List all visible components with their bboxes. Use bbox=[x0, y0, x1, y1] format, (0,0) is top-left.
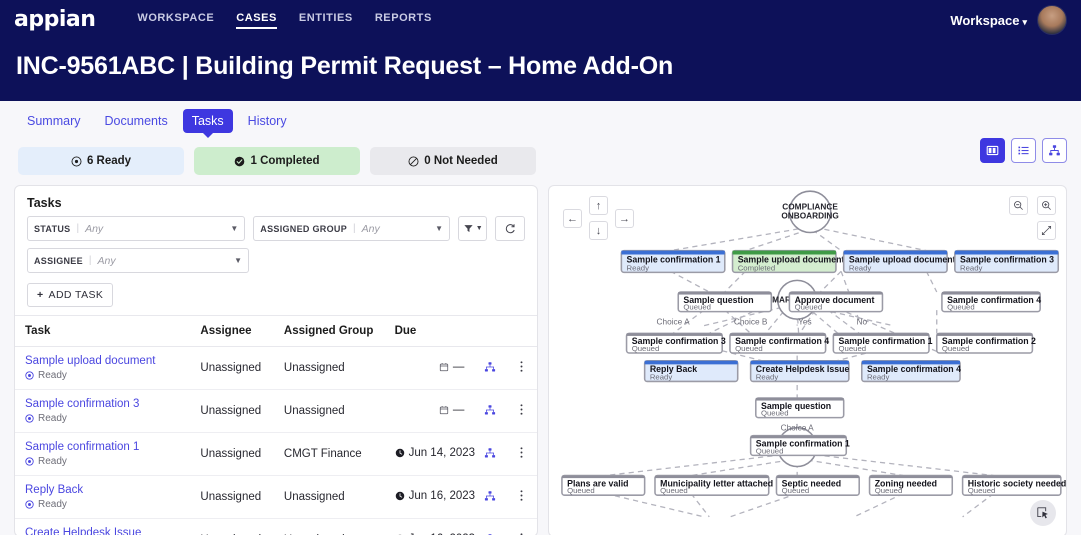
diagram-node-historic-society-needed[interactable]: Historic society needed Queued bbox=[963, 476, 1066, 496]
column-header-assignee[interactable]: Assignee bbox=[190, 316, 274, 347]
tasks-filters: STATUS | Any ▼ ASSIGNED GROUP | Any ▼ ▼ bbox=[15, 216, 537, 315]
chevron-down-icon: ▼ bbox=[234, 256, 242, 265]
cell-group: Unassigned bbox=[274, 519, 385, 535]
cell-task: Sample confirmation 3 Ready bbox=[15, 390, 190, 433]
due-date: — bbox=[453, 404, 465, 416]
main-content: Tasks STATUS | Any ▼ ASSIGNED GROUP | An… bbox=[0, 185, 1081, 535]
diagram-node-n6[interactable]: Approve document Queued bbox=[789, 292, 882, 312]
assigned-group-filter-select[interactable]: ASSIGNED GROUP | Any ▼ bbox=[253, 216, 450, 241]
diagram-node-sample-confirmation-1-marketing[interactable]: Sample confirmation 1 Queued bbox=[751, 436, 850, 456]
status-chip-not-needed-label: 0 Not Needed bbox=[424, 155, 498, 167]
circle-dot-icon bbox=[25, 414, 34, 423]
diagram-node-n2[interactable]: Sample upload document Completed bbox=[733, 251, 845, 273]
pointer-select-icon bbox=[1036, 506, 1050, 520]
chevron-down-icon: ▼ bbox=[230, 224, 238, 233]
node-subtitle: Queued bbox=[947, 303, 975, 312]
status-filter-select[interactable]: STATUS | Any ▼ bbox=[27, 216, 245, 241]
node-subtitle: Ready bbox=[867, 372, 890, 381]
diagram-node-n11[interactable]: Sample confirmation 2 Queued bbox=[937, 333, 1036, 353]
diagram-node-municipality-letter-attached[interactable]: Municipality letter attached Queued bbox=[655, 476, 773, 496]
chevron-down-icon: ▼ bbox=[435, 224, 443, 233]
list-icon bbox=[1017, 144, 1030, 157]
tab-history[interactable]: History bbox=[239, 109, 296, 133]
node-subtitle: Queued bbox=[660, 486, 688, 495]
nav-link-entities[interactable]: ENTITIES bbox=[299, 12, 353, 29]
swimlane-label-line2: ONBOARDING bbox=[781, 212, 838, 221]
hierarchy-icon[interactable] bbox=[484, 361, 496, 373]
diagram-node-create-helpdesk-issue[interactable]: Create Helpdesk Issue Ready bbox=[751, 361, 850, 382]
zoom-in-icon bbox=[1041, 200, 1052, 211]
filter-divider: | bbox=[89, 255, 92, 266]
tasks-table: Task Assignee Assigned Group Due Sample … bbox=[15, 315, 537, 535]
tab-tasks[interactable]: Tasks bbox=[183, 109, 233, 133]
assignee-filter-select[interactable]: ASSIGNEE | Any ▼ bbox=[27, 248, 249, 273]
node-subtitle: Ready bbox=[756, 372, 779, 381]
cell-flow bbox=[474, 347, 505, 390]
cell-assignee: Unassigned bbox=[190, 347, 274, 390]
diagram-node-n1[interactable]: Sample confirmation 1 Ready bbox=[621, 251, 724, 273]
diagram-node-n12[interactable] bbox=[652, 326, 740, 347]
clock-icon bbox=[395, 491, 405, 501]
node-subtitle: Completed bbox=[738, 263, 775, 272]
table-row[interactable]: Create Helpdesk Issue Ready Unassigned U… bbox=[15, 519, 537, 535]
node-subtitle: Queued bbox=[942, 344, 970, 353]
page-title: INC-9561ABC | Building Permit Request – … bbox=[16, 52, 1065, 81]
pan-controls: ↑ ↓ ← → bbox=[563, 196, 635, 244]
diagram-node-n3[interactable]: Sample upload document Ready bbox=[844, 251, 956, 273]
diagram-node-n10[interactable]: Sample confirmation 1 Queued bbox=[833, 333, 932, 353]
more-options-icon[interactable] bbox=[520, 446, 523, 459]
assigned-group-filter-label: ASSIGNED GROUP bbox=[260, 224, 347, 234]
status-chip-not-needed[interactable]: 0 Not Needed bbox=[370, 147, 536, 175]
table-row[interactable]: Sample upload document Ready Unassigned … bbox=[15, 347, 537, 390]
node-subtitle: Queued bbox=[875, 486, 903, 495]
more-options-icon[interactable] bbox=[520, 403, 523, 416]
node-subtitle: Queued bbox=[567, 486, 595, 495]
tasks-table-body: Sample upload document Ready Unassigned … bbox=[15, 347, 537, 535]
cell-group: Unassigned bbox=[274, 476, 385, 519]
node-subtitle: Ready bbox=[650, 372, 673, 381]
task-status-label: Ready bbox=[38, 370, 67, 381]
add-task-label: ADD TASK bbox=[49, 289, 104, 301]
node-subtitle: Ready bbox=[627, 263, 650, 272]
cell-flow bbox=[474, 390, 505, 433]
column-header-flow bbox=[474, 316, 505, 347]
tasks-panel-heading: Tasks bbox=[15, 186, 537, 216]
nav-right-group: Workspace▾ bbox=[950, 5, 1067, 35]
status-filter-value: Any bbox=[85, 223, 103, 235]
task-status: Ready bbox=[25, 370, 180, 381]
cell-actions bbox=[506, 476, 537, 519]
due-date: — bbox=[453, 361, 465, 373]
fit-screen-icon bbox=[1041, 225, 1052, 236]
hierarchy-icon bbox=[1048, 144, 1061, 157]
case-title-band: INC-9561ABC | Building Permit Request – … bbox=[0, 40, 1081, 101]
fit-to-screen-button[interactable] bbox=[1037, 221, 1056, 240]
pan-up-button[interactable]: ↑ bbox=[589, 196, 608, 215]
diagram-node-zoning-needed[interactable]: Zoning needed Queued bbox=[870, 476, 953, 496]
filter-divider: | bbox=[353, 223, 356, 234]
task-status-label: Ready bbox=[38, 499, 67, 510]
clock-icon bbox=[395, 448, 405, 458]
calendar-icon bbox=[439, 405, 449, 415]
view-toggle-list[interactable] bbox=[1011, 138, 1036, 163]
edge-label-no: No bbox=[856, 318, 867, 327]
assigned-group-filter-value: Any bbox=[362, 223, 380, 235]
add-task-button[interactable]: + ADD TASK bbox=[27, 283, 113, 307]
edge-label-yes: Yes bbox=[798, 318, 811, 327]
assignee-filter-value: Any bbox=[98, 255, 116, 267]
swimlane-compliance-onboarding[interactable]: COMPLIANCE ONBOARDING bbox=[781, 191, 838, 232]
cell-due: — bbox=[385, 390, 475, 433]
diagram-node-n4[interactable]: Sample confirmation 3 Ready bbox=[955, 251, 1058, 273]
refresh-button[interactable] bbox=[495, 216, 525, 241]
workspace-menu-button[interactable]: Workspace▾ bbox=[950, 13, 1027, 28]
chevron-down-icon: ▼ bbox=[476, 225, 483, 232]
due-wrapper: Jun 16, 2023 bbox=[395, 490, 476, 502]
task-link[interactable]: Sample confirmation 1 bbox=[25, 441, 180, 453]
cell-due: Jun 14, 2023 bbox=[385, 433, 475, 476]
tasks-table-header: Task Assignee Assigned Group Due bbox=[15, 316, 537, 347]
node-subtitle: Ready bbox=[849, 263, 872, 272]
cell-group: Unassigned bbox=[274, 347, 385, 390]
task-link[interactable]: Sample upload document bbox=[25, 355, 180, 367]
zoom-out-button[interactable] bbox=[1009, 196, 1028, 215]
zoom-controls bbox=[1009, 196, 1056, 241]
task-status-label: Ready bbox=[38, 413, 67, 424]
node-subtitle: Queued bbox=[756, 446, 784, 455]
status-chip-ready-label: 6 Ready bbox=[87, 155, 131, 167]
cell-group: Unassigned bbox=[274, 390, 385, 433]
cell-task: Create Helpdesk Issue Ready bbox=[15, 519, 190, 535]
tasks-panel: Tasks STATUS | Any ▼ ASSIGNED GROUP | An… bbox=[14, 185, 538, 535]
task-link[interactable]: Reply Back bbox=[25, 484, 180, 496]
plus-icon: + bbox=[37, 289, 44, 301]
status-chip-ready[interactable]: 6 Ready bbox=[18, 147, 184, 175]
node-subtitle: Queued bbox=[782, 486, 810, 495]
cell-flow bbox=[474, 519, 505, 535]
filter-row-1: STATUS | Any ▼ ASSIGNED GROUP | Any ▼ ▼ bbox=[27, 216, 525, 241]
task-status: Ready bbox=[25, 413, 180, 424]
view-toggle-split[interactable] bbox=[980, 138, 1005, 163]
tab-summary[interactable]: Summary bbox=[18, 109, 89, 133]
hierarchy-icon[interactable] bbox=[484, 404, 496, 416]
node-subtitle: Queued bbox=[761, 409, 789, 418]
table-row[interactable]: Sample confirmation 1 Ready Unassigned C… bbox=[15, 433, 537, 476]
node-subtitle: Queued bbox=[683, 303, 711, 312]
table-row[interactable]: Reply Back Ready Unassigned Unassigned J… bbox=[15, 476, 537, 519]
check-circle-icon bbox=[234, 156, 245, 167]
status-chip-completed-label: 1 Completed bbox=[250, 155, 319, 167]
diagram-node-sample-confirmation-4-marketing[interactable]: Sample confirmation 4 Ready bbox=[862, 361, 961, 382]
pointer-select-button[interactable] bbox=[1030, 500, 1056, 526]
column-header-task[interactable]: Task bbox=[15, 316, 190, 347]
chevron-down-icon: ▾ bbox=[1022, 17, 1027, 28]
filter-row-2: ASSIGNEE | Any ▼ bbox=[27, 248, 525, 273]
circle-dot-icon bbox=[71, 156, 82, 167]
diagram-node-n5[interactable]: Sample question Queued bbox=[678, 292, 771, 312]
diagram-node-n9[interactable]: Sample confirmation 4 Queued bbox=[730, 333, 829, 353]
task-status: Ready bbox=[25, 456, 180, 467]
more-options-icon[interactable] bbox=[520, 360, 523, 373]
due-date: Jun 14, 2023 bbox=[409, 447, 476, 459]
status-chip-completed[interactable]: 1 Completed bbox=[194, 147, 360, 175]
diagram-canvas[interactable]: COMPLIANCE ONBOARDING MARKETING PERMITTI… bbox=[549, 186, 1066, 535]
diagram-node-plans-are-valid[interactable]: Plans are valid Queued bbox=[562, 476, 645, 496]
cell-assignee: Unassigned bbox=[190, 519, 274, 535]
cell-task: Sample confirmation 1 Ready bbox=[15, 433, 190, 476]
status-summary-chips: 6 Ready 1 Completed 0 Not Needed bbox=[0, 133, 1081, 185]
pan-right-button[interactable]: → bbox=[615, 209, 634, 228]
table-row[interactable]: Sample confirmation 3 Ready Unassigned U… bbox=[15, 390, 537, 433]
cell-task: Reply Back Ready bbox=[15, 476, 190, 519]
view-toggle-diagram[interactable] bbox=[1042, 138, 1067, 163]
nav-link-reports[interactable]: REPORTS bbox=[375, 12, 432, 29]
cell-assignee: Unassigned bbox=[190, 433, 274, 476]
circle-dot-icon bbox=[25, 500, 34, 509]
cell-actions bbox=[506, 390, 537, 433]
cell-group: CMGT Finance bbox=[274, 433, 385, 476]
filter-icon bbox=[463, 223, 474, 234]
cell-assignee: Unassigned bbox=[190, 390, 274, 433]
calendar-icon bbox=[439, 362, 449, 372]
filter-button[interactable]: ▼ bbox=[458, 216, 488, 241]
cell-actions bbox=[506, 433, 537, 476]
diagram-node-n7[interactable]: Sample confirmation 4 Queued bbox=[942, 292, 1041, 312]
fit-row bbox=[1009, 221, 1056, 241]
avatar[interactable] bbox=[1037, 5, 1067, 35]
process-diagram-panel: COMPLIANCE ONBOARDING MARKETING PERMITTI… bbox=[548, 185, 1067, 535]
circle-dot-icon bbox=[25, 371, 34, 380]
filter-divider: | bbox=[76, 223, 79, 234]
cell-due: Jun 16, 2023 bbox=[385, 476, 475, 519]
refresh-icon bbox=[504, 223, 516, 235]
cell-actions bbox=[506, 347, 537, 390]
node-subtitle: Queued bbox=[968, 486, 996, 495]
case-tabs: Summary Documents Tasks History bbox=[0, 101, 1081, 133]
zoom-out-icon bbox=[1013, 200, 1024, 211]
hierarchy-icon[interactable] bbox=[484, 490, 496, 502]
primary-nav-links: WORKSPACE CASES ENTITIES REPORTS bbox=[137, 12, 431, 29]
task-status: Ready bbox=[25, 499, 180, 510]
tab-documents[interactable]: Documents bbox=[95, 109, 176, 133]
cell-assignee: Unassigned bbox=[190, 476, 274, 519]
due-wrapper: — bbox=[439, 404, 465, 416]
nav-link-cases[interactable]: CASES bbox=[236, 12, 277, 29]
swimlane-label-line1: COMPLIANCE bbox=[782, 202, 838, 211]
task-link[interactable]: Sample confirmation 3 bbox=[25, 398, 180, 410]
view-mode-toggle bbox=[980, 138, 1067, 163]
hierarchy-icon[interactable] bbox=[484, 447, 496, 459]
due-date: Jun 16, 2023 bbox=[409, 490, 476, 502]
task-status-label: Ready bbox=[38, 456, 67, 467]
column-header-due[interactable]: Due bbox=[385, 316, 475, 347]
cell-due: Jun 16, 2023 bbox=[385, 519, 475, 535]
due-wrapper: Jun 14, 2023 bbox=[395, 447, 476, 459]
more-options-icon[interactable] bbox=[520, 489, 523, 502]
cell-flow bbox=[474, 476, 505, 519]
status-filter-label: STATUS bbox=[34, 224, 70, 234]
workspace-menu-label: Workspace bbox=[950, 13, 1019, 28]
column-header-actions bbox=[506, 316, 537, 347]
cell-actions bbox=[506, 519, 537, 535]
task-link[interactable]: Create Helpdesk Issue bbox=[25, 527, 180, 535]
pan-down-button[interactable]: ↓ bbox=[589, 221, 608, 240]
due-wrapper: — bbox=[439, 361, 465, 373]
columns-icon bbox=[986, 144, 999, 157]
circle-dot-icon bbox=[25, 457, 34, 466]
cell-due: — bbox=[385, 347, 475, 390]
no-entry-icon bbox=[408, 156, 419, 167]
diagram-node-sample-question-marketing[interactable]: Sample question Queued bbox=[756, 398, 844, 418]
diagram-node-septic-needed[interactable]: Septic needed Queued bbox=[776, 476, 859, 496]
node-subtitle: Ready bbox=[960, 263, 983, 272]
cell-task: Sample upload document Ready bbox=[15, 347, 190, 390]
nav-link-workspace[interactable]: WORKSPACE bbox=[137, 12, 214, 29]
node-subtitle: Queued bbox=[795, 303, 823, 312]
assignee-filter-label: ASSIGNEE bbox=[34, 256, 83, 266]
edge-label-choice-a-2: Choice A bbox=[781, 424, 815, 433]
column-header-group[interactable]: Assigned Group bbox=[274, 316, 385, 347]
cell-flow bbox=[474, 433, 505, 476]
appian-logo[interactable]: appian bbox=[14, 9, 95, 31]
diagram-node-reply-back[interactable]: Reply Back Ready bbox=[645, 361, 738, 382]
zoom-in-button[interactable] bbox=[1037, 196, 1056, 215]
top-navigation-bar: appian WORKSPACE CASES ENTITIES REPORTS … bbox=[0, 0, 1081, 40]
node-subtitle: Queued bbox=[839, 344, 867, 353]
table-header-row: Task Assignee Assigned Group Due bbox=[15, 316, 537, 347]
pan-left-button[interactable]: ← bbox=[563, 209, 582, 228]
